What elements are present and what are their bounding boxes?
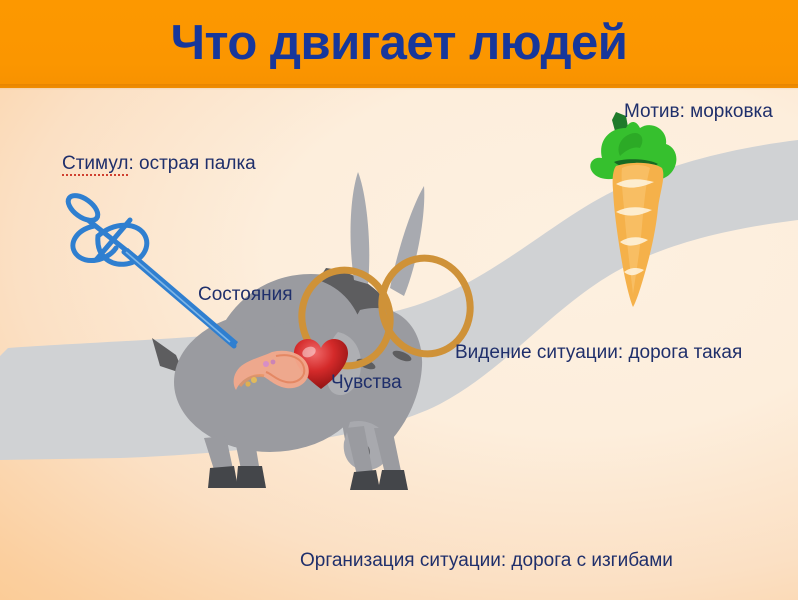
label-motive: Мотив: морковка [624, 100, 773, 124]
label-states: Состояния [198, 283, 293, 307]
label-organization: Организация ситуации: дорога с изгибами [300, 549, 673, 573]
slide-canvas: Что двигает людей Стимул: острая палка М… [0, 0, 798, 600]
sword-stick-icon [58, 186, 278, 356]
label-vision: Видение ситуации: дорога такая [455, 341, 742, 365]
label-stimulus-keyword: Стимул [62, 153, 128, 176]
carrot-icon [586, 108, 694, 308]
label-stimulus-rest: : острая палка [128, 153, 255, 174]
page-title: Что двигает людей [0, 14, 798, 72]
banner-shadow [0, 84, 798, 90]
label-feelings: Чувства [331, 371, 402, 395]
label-stimulus: Стимул: острая палка [62, 152, 256, 176]
